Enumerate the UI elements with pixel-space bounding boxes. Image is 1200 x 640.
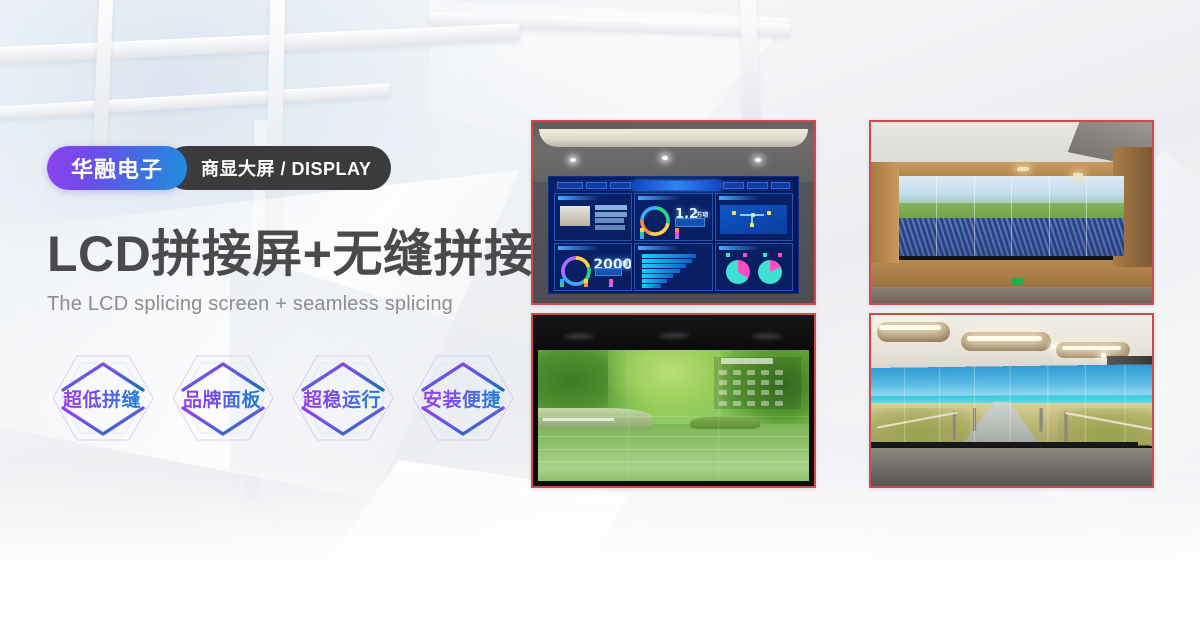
wall-spotlight: [1017, 167, 1029, 171]
scene-garden-lake: [533, 315, 814, 486]
feature-badge-label: 超低拼缝: [63, 385, 141, 412]
dashboard-card-grid: 1.2 万项: [554, 193, 792, 290]
legend-swatch: [778, 253, 782, 257]
card-title-bar: [638, 246, 680, 250]
screen-fence-post: [1064, 411, 1067, 441]
pie-chart: [726, 260, 750, 284]
card-title-bar: [719, 246, 761, 250]
page-subtitle: The LCD splicing screen + seamless splic…: [47, 293, 517, 316]
lcd-video-wall-frame: [533, 347, 814, 486]
bar-item: [642, 284, 662, 288]
ceiling-light-strip: [879, 325, 941, 330]
card-text-line: [595, 225, 625, 230]
ceiling-reflection: [752, 334, 782, 339]
feature-badge-1[interactable]: 品牌面板: [167, 346, 277, 450]
flow-node: [732, 211, 736, 215]
panel-seam: [1085, 365, 1086, 444]
lcd-video-wall-screen: 1.2 万项: [548, 176, 798, 294]
feature-badge-label: 品牌面板: [183, 385, 261, 412]
ceiling-downlight: [1051, 344, 1056, 349]
dashboard-card: [715, 193, 793, 241]
flow-node: [750, 223, 754, 227]
photo-beach-boardwalk-video-wall[interactable]: [869, 313, 1154, 488]
kpi-unit: 家: [622, 259, 628, 268]
legend-swatch: [584, 279, 588, 283]
scene-dashboard: 1.2 万项: [533, 122, 814, 303]
screen-fence-post: [1040, 408, 1043, 431]
calendar-cell: [719, 380, 727, 385]
banner-copy: 华融电子 商显大屏 / DISPLAY LCD拼接屏+无缝拼接 The LCD …: [47, 146, 517, 450]
lcd-video-wall-screen: [871, 364, 1154, 445]
wall-spotlight: [1073, 173, 1083, 177]
dashboard-card: [715, 243, 793, 291]
scene-solar-farm: [871, 122, 1152, 303]
brand-badge: 华融电子 商显大屏 / DISPLAY: [47, 146, 403, 190]
calendar-cell: [747, 370, 755, 375]
calendar-cell: [733, 380, 741, 385]
pie-chart: [758, 260, 782, 284]
feature-badge-label: 安装便捷: [423, 385, 501, 412]
panel-seam: [936, 176, 937, 256]
kpi-unit: 万项: [696, 210, 708, 219]
exit-sign-icon: [1012, 278, 1023, 285]
bar-item: [642, 264, 686, 268]
card-title-bar: [558, 246, 600, 250]
calendar-cell: [775, 401, 783, 406]
screen-fence-post: [953, 411, 956, 440]
legend-swatch: [560, 279, 564, 283]
screen-fence-rail: [543, 418, 613, 421]
calendar-cell: [733, 370, 741, 375]
room-floor: [871, 287, 1152, 303]
donut-chart: [640, 206, 670, 236]
card-text-line: [595, 212, 627, 217]
kpi-subchip: [675, 218, 705, 227]
ceiling-reflection: [564, 334, 594, 339]
legend-swatch: [609, 279, 613, 283]
brand-name-pill: 华融电子: [47, 146, 187, 190]
card-text-line: [595, 205, 627, 210]
wood-wall-left: [871, 162, 899, 263]
feature-badge-0[interactable]: 超低拼缝: [47, 346, 157, 450]
bar-item: [642, 279, 668, 283]
calendar-cell: [761, 390, 769, 395]
ceiling-light-strip: [967, 336, 1043, 341]
calendar-cell: [761, 380, 769, 385]
dashboard-card: 1.2 万项: [634, 193, 712, 241]
dashboard-nav-chip: [586, 182, 607, 189]
feature-badge-2[interactable]: 超稳运行: [287, 346, 397, 450]
room-floor: [871, 448, 1152, 486]
panel-seam: [974, 367, 975, 443]
photo-garden-lake-video-wall[interactable]: [531, 313, 816, 488]
flow-link: [751, 214, 753, 222]
legend-swatch: [609, 283, 613, 287]
dashboard-nav-chip: [723, 182, 744, 189]
flow-diagram: [720, 205, 787, 234]
card-title-bar: [638, 196, 680, 200]
legend-swatch: [560, 283, 564, 287]
bar-item: [642, 269, 680, 273]
page-title: LCD拼接屏+无缝拼接: [47, 228, 517, 281]
dashboard-card: [634, 243, 712, 291]
calendar-cell: [719, 401, 727, 406]
dashboard-card: 2000 家: [554, 243, 632, 291]
card-title-bar: [558, 196, 600, 200]
bar-item: [642, 259, 692, 263]
calendar-cell: [733, 401, 741, 406]
legend-swatch: [675, 235, 679, 239]
photo-dashboard-video-wall[interactable]: 1.2 万项: [531, 120, 816, 305]
calendar-cell: [761, 401, 769, 406]
feature-badge-label: 超稳运行: [303, 385, 381, 412]
card-text-line: [595, 218, 624, 223]
calendar-cell: [719, 390, 727, 395]
feature-badge-list: 超低拼缝 品牌面板: [47, 346, 517, 450]
ceiling-light: [570, 158, 576, 162]
panel-seam: [905, 368, 906, 442]
panel-seam: [538, 416, 809, 417]
panel-seam: [1086, 176, 1087, 256]
panel-seam: [974, 176, 975, 256]
ceiling-cove: [539, 129, 809, 147]
screen-sky: [871, 364, 1154, 397]
bar-item: [642, 274, 674, 278]
ceiling-coffer: [961, 332, 1051, 351]
dashboard-title-bar: [634, 181, 720, 190]
calendar-cell: [747, 380, 755, 385]
product-banner: 华融电子 商显大屏 / DISPLAY LCD拼接屏+无缝拼接 The LCD …: [0, 0, 1200, 640]
dashboard-nav-chip: [557, 182, 583, 189]
calendar-overlay: [714, 357, 801, 409]
brand-category-pill: 商显大屏 / DISPLAY: [165, 146, 391, 190]
ceiling-light-strip: [1062, 346, 1121, 350]
card-thumbnail: [560, 206, 590, 226]
flow-node: [767, 211, 771, 215]
kpi-subchip: [595, 268, 622, 276]
panel-seam: [1010, 366, 1011, 443]
legend-swatch: [584, 283, 588, 287]
calendar-cell: [733, 390, 741, 395]
feature-badge-3[interactable]: 安装便捷: [407, 346, 517, 450]
scene-beach-boardwalk: [871, 315, 1152, 486]
lcd-video-wall-screen: [899, 176, 1124, 256]
panel-seam: [1049, 176, 1050, 256]
calendar-cell: [719, 370, 727, 375]
panel-seam: [939, 367, 940, 442]
dashboard-card: [554, 193, 632, 241]
dashboard-nav-chip: [771, 182, 790, 189]
screen-island-shrub: [690, 416, 760, 429]
calendar-cell: [747, 390, 755, 395]
bar-item: [642, 254, 697, 258]
calendar-title: [721, 358, 773, 364]
water-shimmer: [538, 436, 809, 437]
legend-swatch: [763, 253, 767, 257]
calendar-cell: [747, 401, 755, 406]
lcd-video-wall-screen: [538, 350, 809, 481]
screen-lake-water: [538, 424, 809, 481]
panel-seam: [1124, 365, 1125, 445]
dashboard-nav-chip: [610, 182, 631, 189]
calendar-cell: [775, 370, 783, 375]
dashboard-top-bar: [554, 180, 792, 192]
photo-solar-farm-video-wall[interactable]: [869, 120, 1154, 305]
dashboard-nav-chip: [747, 182, 768, 189]
legend-swatch: [726, 253, 730, 257]
video-wall-base: [871, 442, 1138, 447]
calendar-cell: [775, 380, 783, 385]
wall-bezel-top: [533, 315, 814, 347]
legend-swatch: [640, 235, 644, 239]
legend-swatch: [743, 253, 747, 257]
ceiling-reflection: [659, 333, 689, 338]
calendar-cell: [775, 390, 783, 395]
water-shimmer: [538, 449, 809, 450]
card-title-bar: [719, 196, 761, 200]
water-shimmer: [538, 461, 809, 462]
calendar-cell: [761, 370, 769, 375]
panel-seam: [1047, 366, 1048, 444]
panel-seam: [1011, 176, 1012, 256]
